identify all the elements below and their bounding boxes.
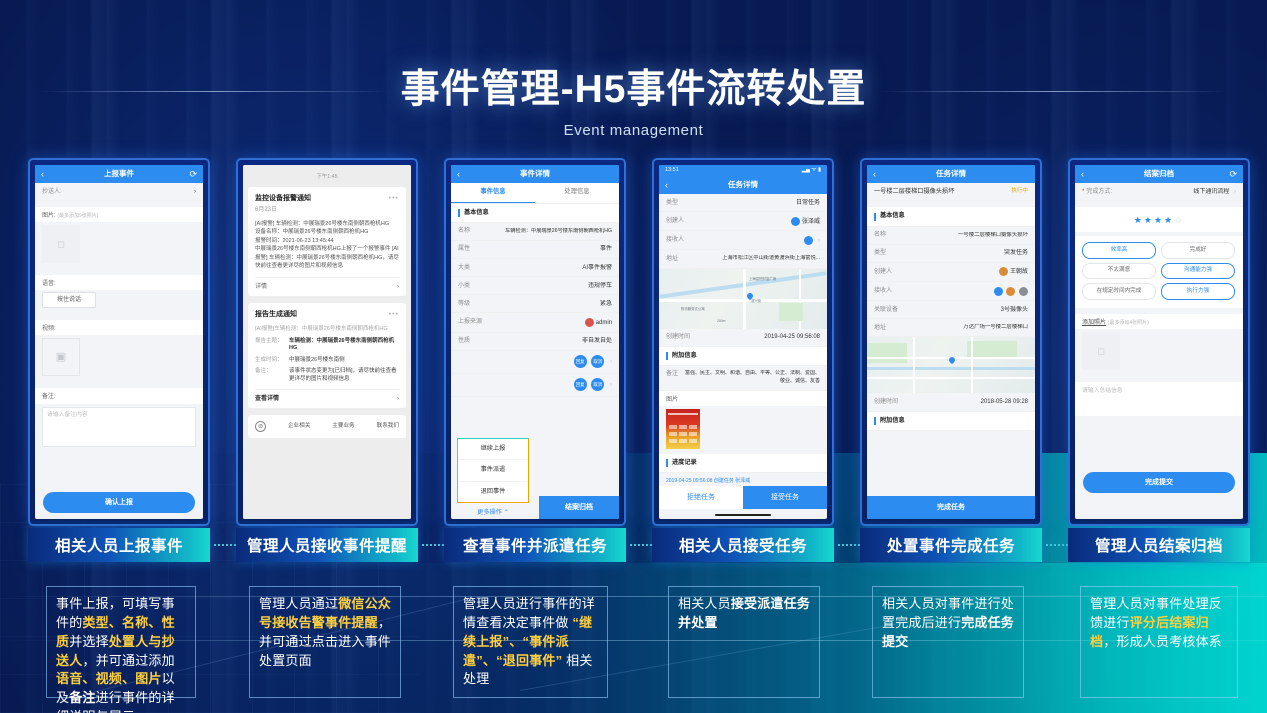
star-icon[interactable]: ☆	[1174, 215, 1184, 225]
table-row: 地址万达广场一号楼二层楼梯口	[867, 319, 1035, 337]
summary-input[interactable]: 请输入总结信息	[1075, 382, 1243, 416]
tag-good-communication[interactable]: 沟通能力强	[1161, 263, 1235, 280]
map-label: 陈坊服务式公寓	[681, 307, 705, 312]
card2-row-key: 生成时间：	[255, 357, 289, 364]
menu-item-contact[interactable]: 联系我们	[377, 423, 399, 431]
table-row: 接收人	[867, 282, 1035, 301]
description-4: 相关人员接受派遣任务并处置	[668, 586, 820, 698]
row-value: 紧急	[600, 300, 612, 308]
table-row[interactable]: 接收人 ›	[659, 231, 827, 250]
phone-screen-4: 13:51 ▂▄ ᯤ ▮ ‹ 任务详情 类型日常任务 创建人 张泽威 接收人	[659, 165, 827, 519]
tag-efficient[interactable]: 效率高	[1082, 242, 1156, 259]
task-header-row: 一号楼二层楼梯口摄像头损坏 执行中	[867, 183, 1035, 201]
more-actions-toggle[interactable]: 更多操作 ⌃	[457, 509, 529, 517]
back-icon[interactable]: ‹	[41, 168, 44, 180]
finish-method-text: 完成方式:	[1086, 189, 1112, 195]
chevron-right-icon: ›	[397, 283, 399, 291]
image-label: 图片	[659, 391, 827, 406]
back-icon[interactable]: ‹	[873, 168, 876, 180]
required-asterisk: *	[1082, 189, 1084, 195]
row-key: 等级	[458, 300, 470, 308]
tag-on-time[interactable]: 在规定时间内完成	[1082, 283, 1156, 300]
card1-header: 监控设备报警通知 •••	[255, 194, 399, 203]
table-row: 创建人 王朝故	[867, 263, 1035, 282]
card2-header: 报告生成通知 •••	[255, 310, 399, 319]
description-2: 管理人员通过微信公众号接收告警事件提醒，并可通过点击进入事件处置页面	[249, 586, 401, 698]
chip-reply[interactable]: 回复	[574, 378, 587, 391]
brand-logo-icon: ⊜	[255, 421, 266, 432]
phone4-navbar: ‹ 任务详情	[659, 176, 827, 194]
image-hint: (最多添加9张照片)	[57, 213, 98, 219]
row-key: 名称	[874, 231, 886, 239]
description-run: 语音、视频、图片	[56, 671, 162, 686]
message-time: 下午1:45	[248, 171, 406, 187]
table-row: 类型日常任务	[659, 194, 827, 212]
table-row: 小类违规停车	[451, 277, 619, 295]
clock: 13:51	[665, 167, 679, 174]
finish-method-value: 线下通讯流程	[1193, 189, 1229, 195]
phone4-statusbar: 13:51 ▂▄ ᯤ ▮	[659, 165, 827, 176]
status-icons: ▂▄ ᯤ ▮	[802, 167, 821, 174]
card2-footer[interactable]: 查看详情 ›	[255, 389, 399, 408]
step-descriptions: 事件上报，可填写事件的类型、名称、性质并选择处置人与抄送人，并可通过添加语音、视…	[0, 586, 1267, 704]
row-value: 非自发自处	[582, 337, 612, 345]
row-key: 大类	[458, 264, 470, 272]
card2-detail-link[interactable]: 查看详情	[255, 395, 279, 403]
table-row: 回复 取消 ›	[451, 351, 619, 374]
card2-row-value: 车辆检测：中展瑞景26号楼东南侧朝西枪机HG	[289, 338, 399, 353]
row-key: 创建人	[666, 217, 684, 225]
row-key: 属性	[458, 245, 470, 253]
avatar	[585, 318, 594, 327]
row-value-with-avatar: admin	[585, 318, 612, 327]
attached-photo[interactable]	[666, 409, 700, 449]
rating-stars[interactable]: ★★★★☆	[1075, 207, 1243, 232]
star-icon[interactable]: ★	[1144, 215, 1154, 225]
row-value: 违规停车	[588, 282, 612, 290]
row-key: 名称	[458, 227, 470, 235]
row-key: 备注	[666, 370, 678, 378]
tag-well-done[interactable]: 完成好	[1161, 242, 1235, 259]
phone3-nav-title: 事件详情	[520, 169, 550, 179]
chevron-right-icon: ›	[818, 238, 820, 244]
star-icon[interactable]: ★	[1134, 215, 1144, 225]
step-4[interactable]: 相关人员接受任务	[652, 528, 834, 562]
row-value-with-avatar: 王朝故	[999, 267, 1028, 276]
progress-section-title: 进度记录	[659, 454, 827, 473]
table-row: 回复 取消 ›	[451, 374, 619, 397]
phone-screen-5: ‹ 任务详情 一号楼二层楼梯口摄像头损坏 执行中 基本信息 名称一号楼二层楼梯口…	[867, 165, 1035, 519]
card2-row: 备注： 该事件状态变更为[已归档]，请尽快前往查看更详尽的图片和视频信息	[255, 368, 399, 383]
row-value-with-avatar: 张泽威	[791, 217, 820, 226]
row-value: 王朝故	[1010, 269, 1028, 275]
row-key: 关联设备	[874, 306, 898, 314]
row-value: 车辆检测：中展瑞景26号楼东南侧朝西枪机HG	[505, 228, 612, 235]
finish-method-value-wrap: 线下通讯流程 ›	[1193, 188, 1236, 196]
row-key: 地址	[874, 324, 886, 332]
chip-cancel[interactable]: 取消	[591, 378, 604, 391]
description-5: 相关人员对事件进行处置完成后进行完成任务提交	[872, 586, 1024, 698]
description-run: ，并可通过添加	[82, 653, 174, 668]
row-value: 3号摄像头	[1001, 306, 1028, 314]
phone-screen-6: ‹ 结案归档 ⟳ *完成方式: 线下通讯流程 › ★★★★☆	[1075, 165, 1243, 519]
row-value: AI事件报警	[582, 264, 612, 272]
card2-title: 报告生成通知	[255, 310, 297, 319]
remark-input[interactable]: 请输入备注内容	[42, 407, 196, 447]
step-5[interactable]: 处置事件完成任务	[860, 528, 1042, 562]
location-map[interactable]: 上海富悦财富广场 陈坊服务式公寓 滨兴街 200m	[659, 269, 827, 329]
tab-process-info[interactable]: 处理信息	[535, 183, 619, 203]
basic-info-section-title: 基本信息	[867, 207, 1035, 226]
task-name: 一号楼二层楼梯口摄像头损坏	[874, 188, 954, 196]
star-icon[interactable]: ★	[1164, 215, 1174, 225]
process-steps: 相关人员上报事件 ➤ 管理人员接收事件提醒 ➤ 查看事件并派遣任务 ➤ 相关人员…	[0, 528, 1267, 570]
step-1[interactable]: 相关人员上报事件	[28, 528, 210, 562]
table-row: 创建人 张泽威	[659, 212, 827, 231]
chevron-right-icon: ›	[194, 188, 196, 196]
image-label-text: 图片:	[42, 213, 56, 219]
table-row: 名称一号楼二层楼梯口摄像头损坏	[867, 227, 1035, 245]
row-value: 上海市松江区中山街道黄渡浜街上海富悦...	[722, 255, 820, 262]
add-video-button[interactable]: ▣	[42, 338, 80, 376]
chip-reply[interactable]: 回复	[574, 355, 587, 368]
card2-row: 生成时间： 中展瑞景26号楼东南侧	[255, 357, 399, 364]
phone4-nav-title: 任务详情	[728, 180, 758, 190]
row-value: 事件	[600, 245, 612, 253]
alarm-notification-card[interactable]: 监控设备报警通知 ••• 6月23日 [AI报警] 车辆检测：中展瑞景26号楼东…	[248, 187, 406, 296]
row-value: 2018-05-28 09:28	[981, 398, 1028, 406]
confirm-report-button[interactable]: 确认上报	[43, 492, 195, 513]
map-label: 上海富悦财富广场	[749, 277, 776, 282]
row-key: 创建时间	[874, 398, 898, 406]
table-row: 地址上海市松江区中山街道黄渡浜街上海富悦...	[659, 250, 827, 268]
row-key: 小类	[458, 282, 470, 290]
avatar	[1019, 287, 1028, 296]
description-run: 备注	[69, 690, 95, 705]
phone1-navbar: ‹ 上报事件 ⟳	[35, 165, 203, 183]
phone-mockups: ‹ 上报事件 ⟳ 抄送人: › 图片: (最多添加9张照片) ◻ 语音: 按住说…	[0, 158, 1267, 526]
row-key: 创建时间	[666, 333, 690, 341]
reject-task-button[interactable]: 拒绝任务	[659, 486, 743, 509]
complete-task-button[interactable]: 完成任务	[867, 496, 1035, 519]
avatar	[1006, 287, 1015, 296]
avatar	[791, 217, 800, 226]
chevron-right-icon: ›	[610, 359, 612, 365]
voice-label: 语音:	[35, 275, 203, 290]
phone-mockup-2: 下午1:45 监控设备报警通知 ••• 6月23日 [AI报警] 车辆检测：中展…	[236, 158, 418, 526]
description-run: 并选择	[69, 634, 109, 649]
table-row: 关联设备3号摄像头	[867, 301, 1035, 319]
refresh-icon[interactable]: ⟳	[1229, 168, 1237, 180]
remark-label: 备注:	[35, 388, 203, 403]
wechat-bottom-menu[interactable]: ⊜ 企业相关 主要业务 联系我们	[248, 415, 406, 438]
description-run: ，形成人员考核体系	[1103, 634, 1222, 649]
row-key: 类型	[666, 199, 678, 207]
phone4-actions: 拒绝任务 接受任务	[659, 486, 827, 509]
row-key: 性质	[458, 337, 470, 345]
report-notification-card[interactable]: 报告生成通知 ••• [AI报警]车辆检测：中展瑞景26号楼东南侧朝西枪机HG …	[248, 303, 406, 408]
home-indicator	[715, 514, 771, 517]
description-run: 相关人员	[678, 596, 731, 611]
cc-person-row[interactable]: 抄送人: ›	[35, 183, 203, 201]
tab-event-info[interactable]: 事件信息	[451, 183, 535, 203]
back-icon[interactable]: ‹	[665, 179, 668, 191]
phone1-nav-title: 上报事件	[104, 169, 134, 179]
star-icon[interactable]: ★	[1154, 215, 1164, 225]
row-chips[interactable]: 回复 取消 ›	[574, 378, 612, 391]
card1-body: [AI报警] 车辆检测：中展瑞景26号楼东南侧朝西枪机HG 设备名称：中展瑞景2…	[255, 220, 399, 271]
phone5-nav-title: 任务详情	[936, 169, 966, 179]
chip-cancel[interactable]: 取消	[591, 355, 604, 368]
submit-completion-button[interactable]: 完成提交	[1083, 472, 1235, 493]
table-row: 等级紧急	[451, 295, 619, 313]
card2-row-key: 备注：	[255, 368, 289, 383]
add-photo-label: 添加照片 (最多添加4张照片)	[1075, 314, 1243, 329]
menu-item-continue-report[interactable]: 继续上报	[458, 439, 528, 460]
phone-screen-3: ‹ 事件详情 事件信息 处理信息 基本信息 名称车辆检测：中展瑞景26号楼东南侧…	[451, 165, 619, 519]
table-row: 名称车辆检测：中展瑞景26号楼东南侧朝西枪机HG	[451, 223, 619, 241]
phone-mockup-4: 13:51 ▂▄ ᯤ ▮ ‹ 任务详情 类型日常任务 创建人 张泽威 接收人	[652, 158, 834, 526]
table-row: 性质非自发自处	[451, 333, 619, 351]
wechat-message-list: 下午1:45 监控设备报警通知 ••• 6月23日 [AI报警] 车辆检测：中展…	[243, 165, 411, 519]
table-row: 上报来源 admin	[451, 313, 619, 332]
phone-screen-1: ‹ 上报事件 ⟳ 抄送人: › 图片: (最多添加9张照片) ◻ 语音: 按住说…	[35, 165, 203, 519]
finish-method-label: *完成方式:	[1082, 188, 1112, 196]
step-3[interactable]: 查看事件并派遣任务	[444, 528, 626, 562]
phone-mockup-1: ‹ 上报事件 ⟳ 抄送人: › 图片: (最多添加9张照片) ◻ 语音: 按住说…	[28, 158, 210, 526]
header: 事件管理-H5事件流转处置 Event management	[0, 58, 1267, 139]
avatar	[804, 236, 813, 245]
add-photo-button[interactable]: ◻	[1082, 332, 1120, 370]
row-value-with-avatar: ›	[804, 236, 820, 245]
table-row: 创建时间 2019-04-25 09:56:08	[659, 329, 827, 347]
card2-row-value: 该事件状态变更为[已归档]，请尽快前往查看更详尽的图片和视频信息	[289, 368, 399, 383]
map-scale: 200m	[717, 319, 725, 324]
chevron-right-icon: ›	[610, 382, 612, 388]
extra-info-section-title: 附加信息	[867, 412, 1035, 431]
chevron-right-icon: ›	[397, 395, 399, 403]
more-actions-menu: 继续上报 事件派遣 退回事件	[457, 438, 529, 503]
rating-tags: 效率高 完成好 不太满意 沟通能力强 在规定时间内完成 执行力强	[1075, 236, 1243, 308]
card1-title: 监控设备报警通知	[255, 194, 311, 203]
table-row: 大类AI事件报警	[451, 259, 619, 277]
tag-strong-execution[interactable]: 执行力强	[1161, 283, 1235, 300]
refresh-icon[interactable]: ⟳	[189, 168, 197, 180]
cc-person-label: 抄送人:	[42, 188, 62, 196]
video-label: 视频:	[35, 320, 203, 335]
row-value: 一号楼二层楼梯口摄像头损坏	[958, 232, 1028, 239]
row-key: 地址	[666, 255, 678, 263]
description-1: 事件上报，可填写事件的类型、名称、性质并选择处置人与抄送人，并可通过添加语音、视…	[46, 586, 196, 698]
row-key: 接收人	[874, 287, 892, 295]
row-value: admin	[596, 320, 612, 326]
row-key: 类型	[874, 249, 886, 257]
menu-item-dispatch-event[interactable]: 事件派遣	[458, 460, 528, 481]
row-key: 上报来源	[458, 318, 482, 326]
chevron-right-icon: ›	[1234, 189, 1236, 195]
menu-item-return-event[interactable]: 退回事件	[458, 482, 528, 502]
row-chips[interactable]: 回复 取消 ›	[574, 355, 612, 368]
description-3: 管理人员进行事件的详情查看决定事件做 “继续上报”、“事件派遣”、“退回事件” …	[453, 586, 608, 698]
card2-row-value: 中展瑞景26号楼东南侧	[289, 357, 345, 364]
more-dots-icon[interactable]: •••	[389, 194, 399, 203]
phone-mockup-3: ‹ 事件详情 事件信息 处理信息 基本信息 名称车辆检测：中展瑞景26号楼东南侧…	[444, 158, 626, 526]
archive-case-button[interactable]: 结案归档	[539, 496, 619, 519]
back-icon[interactable]: ‹	[457, 168, 460, 180]
row-value: 富强、民主、文明、和谐、自由、平等、公正、法制、爱国、敬业、诚信、友善	[684, 370, 820, 385]
phone-mockup-5: ‹ 任务详情 一号楼二层楼梯口摄像头损坏 执行中 基本信息 名称一号楼二层楼梯口…	[860, 158, 1042, 526]
row-value: 万达广场一号楼二层楼梯口	[963, 324, 1028, 331]
status-badge: 执行中	[1011, 188, 1028, 196]
avatar	[999, 267, 1008, 276]
add-photo-hint: (最多添加4张照片)	[1108, 320, 1149, 326]
page-subtitle: Event management	[0, 122, 1267, 139]
card2-row: 报告主题： 车辆检测：中展瑞景26号楼东南侧朝西枪机HG	[255, 338, 399, 353]
row-value: 突发任务	[1004, 249, 1028, 257]
table-row: 属性事件	[451, 241, 619, 259]
table-row: 类型突发任务	[867, 245, 1035, 263]
card2-row-key: 报告主题：	[255, 338, 289, 353]
detail-tabs: 事件信息 处理信息	[451, 183, 619, 204]
row-key: 接收人	[666, 236, 684, 244]
location-map[interactable]	[867, 337, 1035, 393]
tag-not-satisfied[interactable]: 不太满意	[1082, 263, 1156, 280]
accept-task-button[interactable]: 接受任务	[743, 486, 827, 509]
card1-date: 6月23日	[255, 206, 399, 214]
more-dots-icon[interactable]: •••	[389, 310, 399, 319]
description-6: 管理人员对事件处理反馈进行评分后结案归档，形成人员考核体系	[1080, 586, 1238, 698]
finish-method-row[interactable]: *完成方式: 线下通讯流程 ›	[1075, 183, 1243, 201]
phone5-navbar: ‹ 任务详情	[867, 165, 1035, 183]
row-value: 张泽威	[802, 219, 820, 225]
menu-item-company[interactable]: 企业相关	[288, 423, 310, 431]
phone3-navbar: ‹ 事件详情	[451, 165, 619, 183]
card1-detail-link[interactable]: 详情	[255, 283, 267, 291]
avatar-group	[994, 287, 1028, 296]
step-2[interactable]: 管理人员接收事件提醒	[236, 528, 418, 562]
slide-root: 事件管理-H5事件流转处置 Event management ‹ 上报事件 ⟳ …	[0, 0, 1267, 713]
avatar	[994, 287, 1003, 296]
row-value: 日常任务	[796, 199, 820, 207]
phone6-nav-title: 结案归档	[1144, 169, 1174, 179]
back-icon[interactable]: ‹	[1081, 168, 1084, 180]
add-photo-button[interactable]: ◻	[42, 225, 80, 263]
row-value: 2019-04-25 09:56:08	[764, 333, 820, 341]
step-6[interactable]: 管理人员结案归档	[1068, 528, 1250, 562]
extra-info-section-title: 附加信息	[659, 347, 827, 366]
description-run: 管理人员通过	[259, 596, 338, 611]
card2-sub: [AI报警]车辆检测：中展瑞景26号楼东南侧朝西枪机HG	[255, 325, 399, 334]
phone-screen-2: 下午1:45 监控设备报警通知 ••• 6月23日 [AI报警] 车辆检测：中展…	[243, 165, 411, 519]
hold-to-talk-button[interactable]: 按住说话	[42, 292, 96, 308]
row-key: 创建人	[874, 268, 892, 276]
phone6-navbar: ‹ 结案归档 ⟳	[1075, 165, 1243, 183]
add-photo-text: 添加照片	[1082, 320, 1106, 326]
table-row: 备注 富强、民主、文明、和谐、自由、平等、公正、法制、爱国、敬业、诚信、友善	[659, 366, 827, 391]
map-label: 滨兴街	[751, 299, 761, 304]
phone-mockup-6: ‹ 结案归档 ⟳ *完成方式: 线下通讯流程 › ★★★★☆	[1068, 158, 1250, 526]
menu-item-business[interactable]: 主要业务	[332, 423, 354, 431]
page-title: 事件管理-H5事件流转处置	[0, 58, 1267, 114]
table-row: 创建时间 2018-05-28 09:28	[867, 393, 1035, 411]
card1-footer[interactable]: 详情 ›	[255, 277, 399, 296]
basic-info-section-title: 基本信息	[451, 204, 619, 223]
image-label: 图片: (最多添加9张照片)	[35, 207, 203, 222]
